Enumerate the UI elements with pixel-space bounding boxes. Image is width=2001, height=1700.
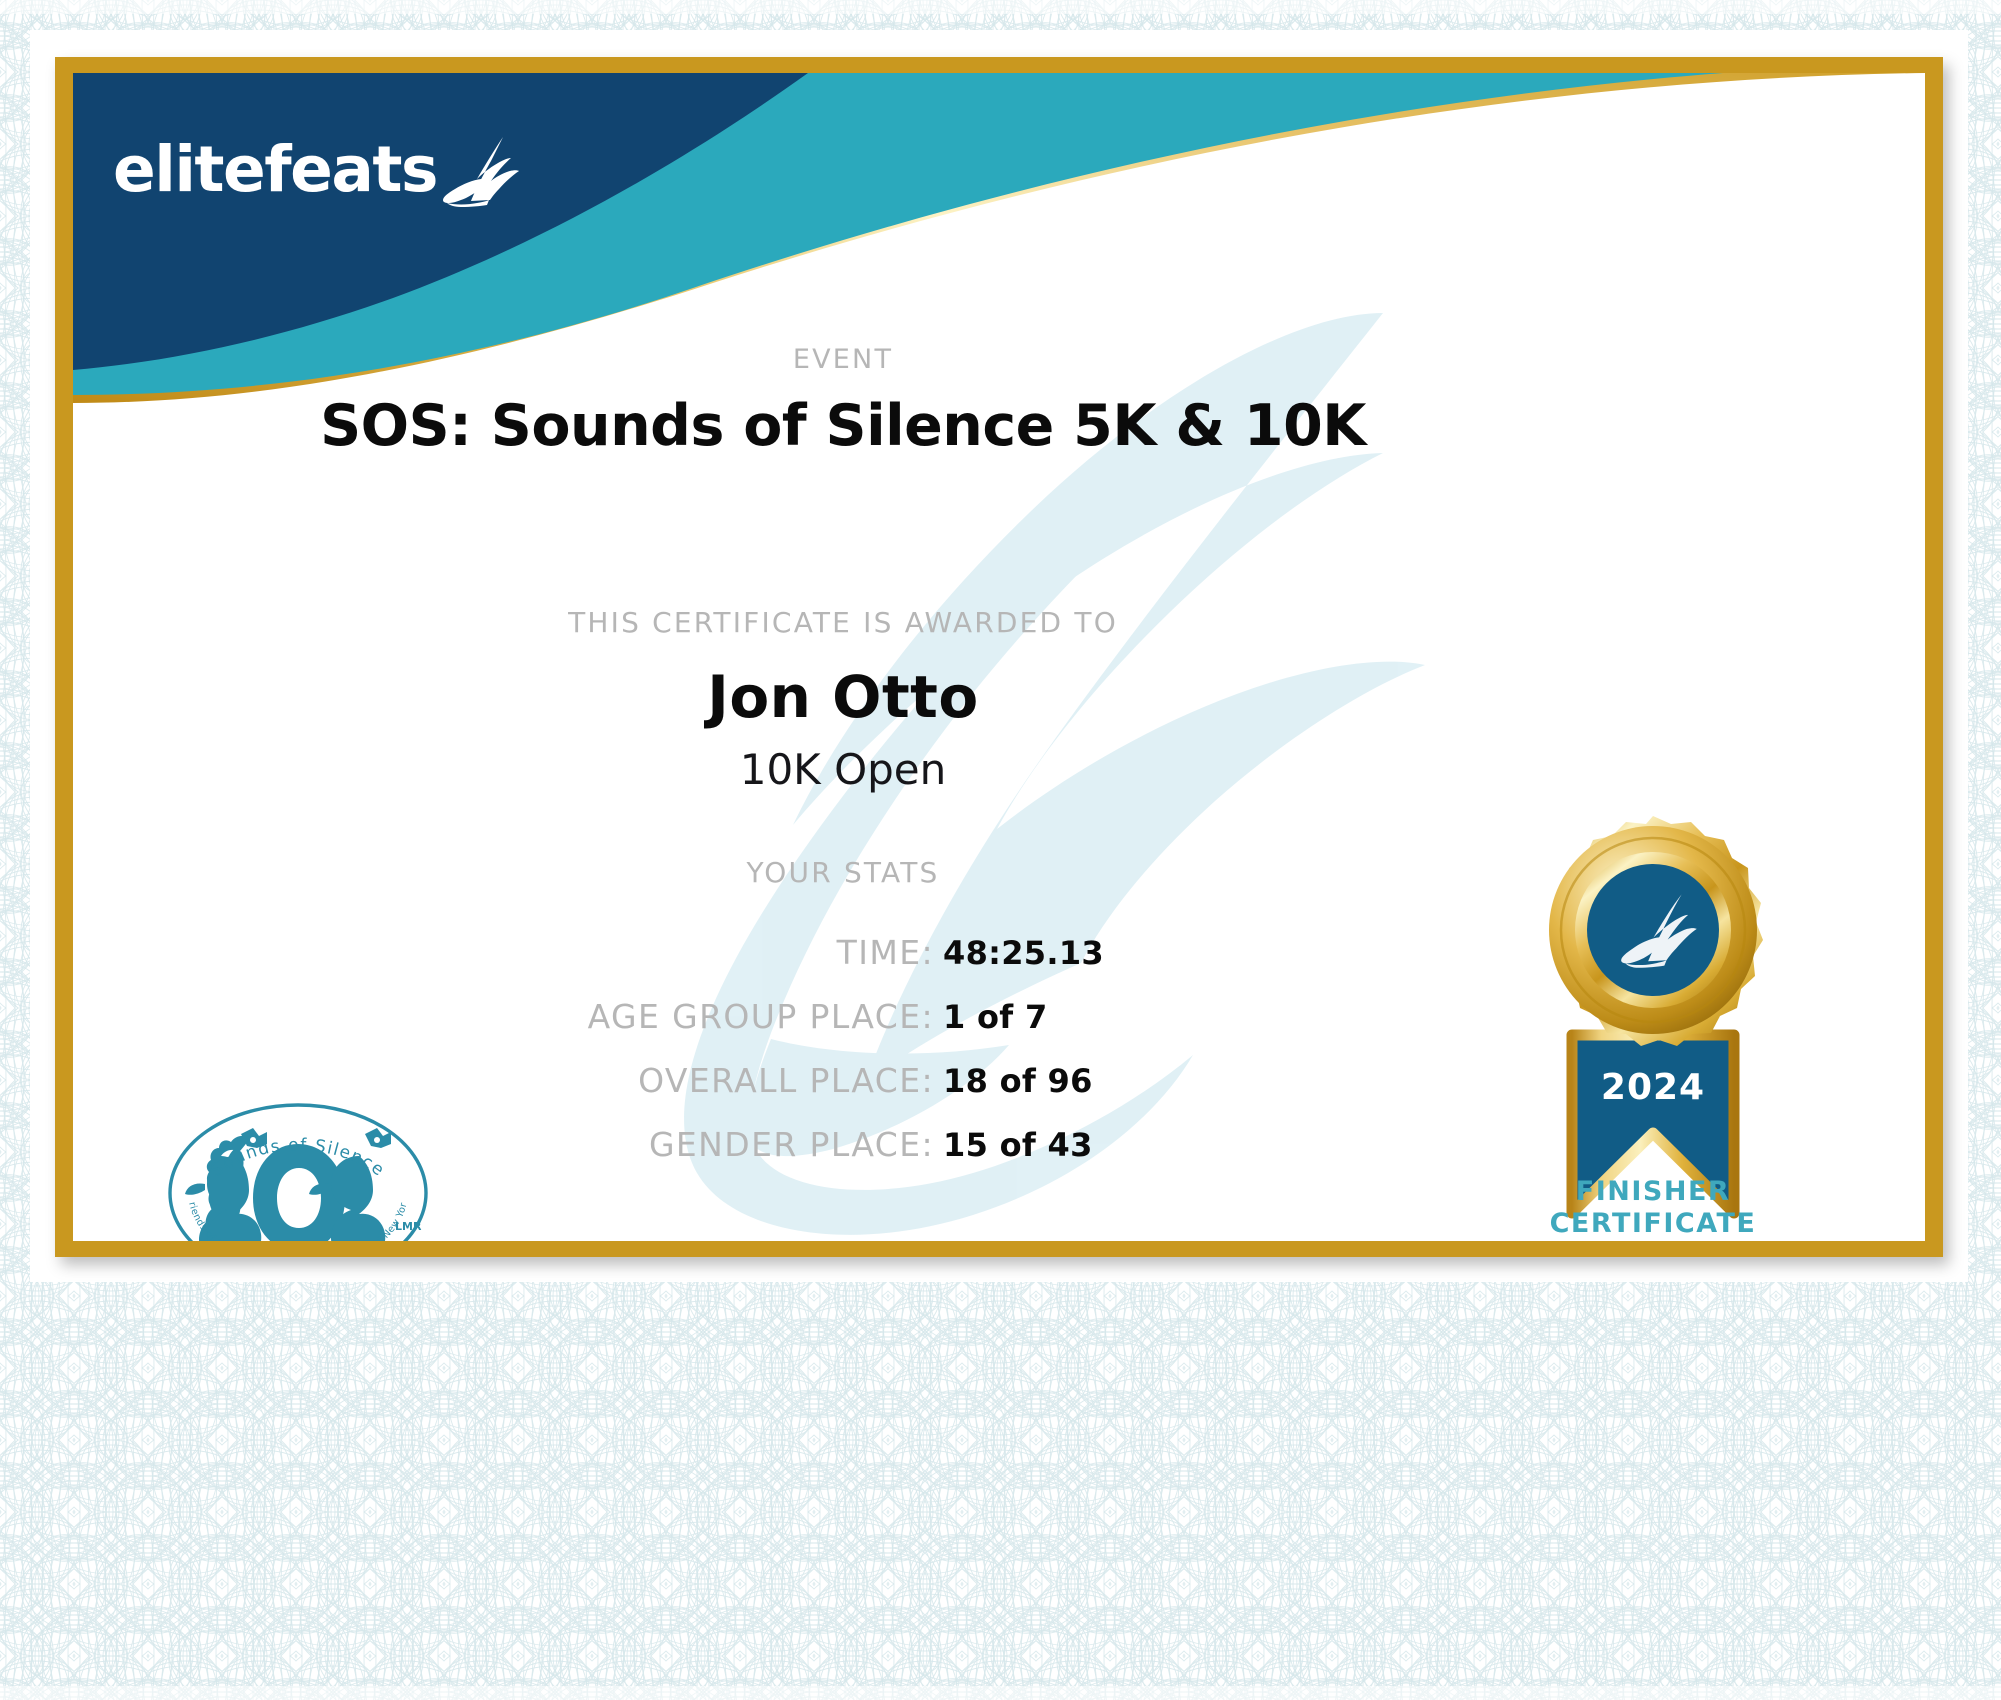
- sos-event-logo: Sounds of Silence Friends of the Postpar…: [163, 1098, 433, 1241]
- elitefeats-wordmark: elitefeats: [113, 138, 437, 201]
- your-stats-label: YOUR STATS: [73, 856, 1613, 889]
- certificate-content: EVENT SOS: Sounds of Silence 5K & 10K TH…: [73, 73, 1925, 1241]
- recipient-division: 10K Open: [73, 745, 1613, 794]
- badge-year: 2024: [1601, 1067, 1705, 1108]
- badge-caption: FINISHER CERTIFICATE: [1473, 1176, 1833, 1239]
- gold-frame-border: elitefeats EVENT SOS: Sounds of Silence …: [55, 57, 1943, 1257]
- sos-monogram-suffix: LMR: [395, 1220, 422, 1233]
- stat-value-overall-place: 18 of 96: [943, 1062, 1363, 1100]
- stat-row-gender-place: GENDER PLACE: 15 of 43: [323, 1125, 1363, 1171]
- stat-row-overall-place: OVERALL PLACE: 18 of 96: [323, 1061, 1363, 1107]
- stat-key-time: TIME:: [323, 933, 943, 972]
- stat-row-age-group-place: AGE GROUP PLACE: 1 of 7: [323, 997, 1363, 1043]
- awarded-to-label: THIS CERTIFICATE IS AWARDED TO: [73, 606, 1613, 639]
- badge-caption-line1: FINISHER: [1473, 1176, 1833, 1208]
- stat-key-overall-place: OVERALL PLACE:: [323, 1061, 943, 1100]
- recipient-name: Jon Otto: [73, 663, 1613, 731]
- event-title: SOS: Sounds of Silence 5K & 10K: [73, 393, 1613, 459]
- event-label: EVENT: [73, 344, 1613, 375]
- badge-caption-line2: CERTIFICATE: [1473, 1208, 1833, 1240]
- stats-table: TIME: 48:25.13 AGE GROUP PLACE: 1 of 7 O…: [323, 933, 1363, 1189]
- winged-foot-icon: [441, 135, 519, 207]
- stat-row-time: TIME: 48:25.13: [323, 933, 1363, 979]
- stat-value-time: 48:25.13: [943, 934, 1363, 972]
- certificate-page: elitefeats EVENT SOS: Sounds of Silence …: [0, 0, 2001, 1700]
- certificate-body: elitefeats EVENT SOS: Sounds of Silence …: [73, 73, 1925, 1241]
- stat-value-age-group-place: 1 of 7: [943, 998, 1363, 1036]
- stat-key-age-group-place: AGE GROUP PLACE:: [323, 997, 943, 1036]
- stat-value-gender-place: 15 of 43: [943, 1126, 1363, 1164]
- elitefeats-logo: elitefeats: [113, 135, 519, 201]
